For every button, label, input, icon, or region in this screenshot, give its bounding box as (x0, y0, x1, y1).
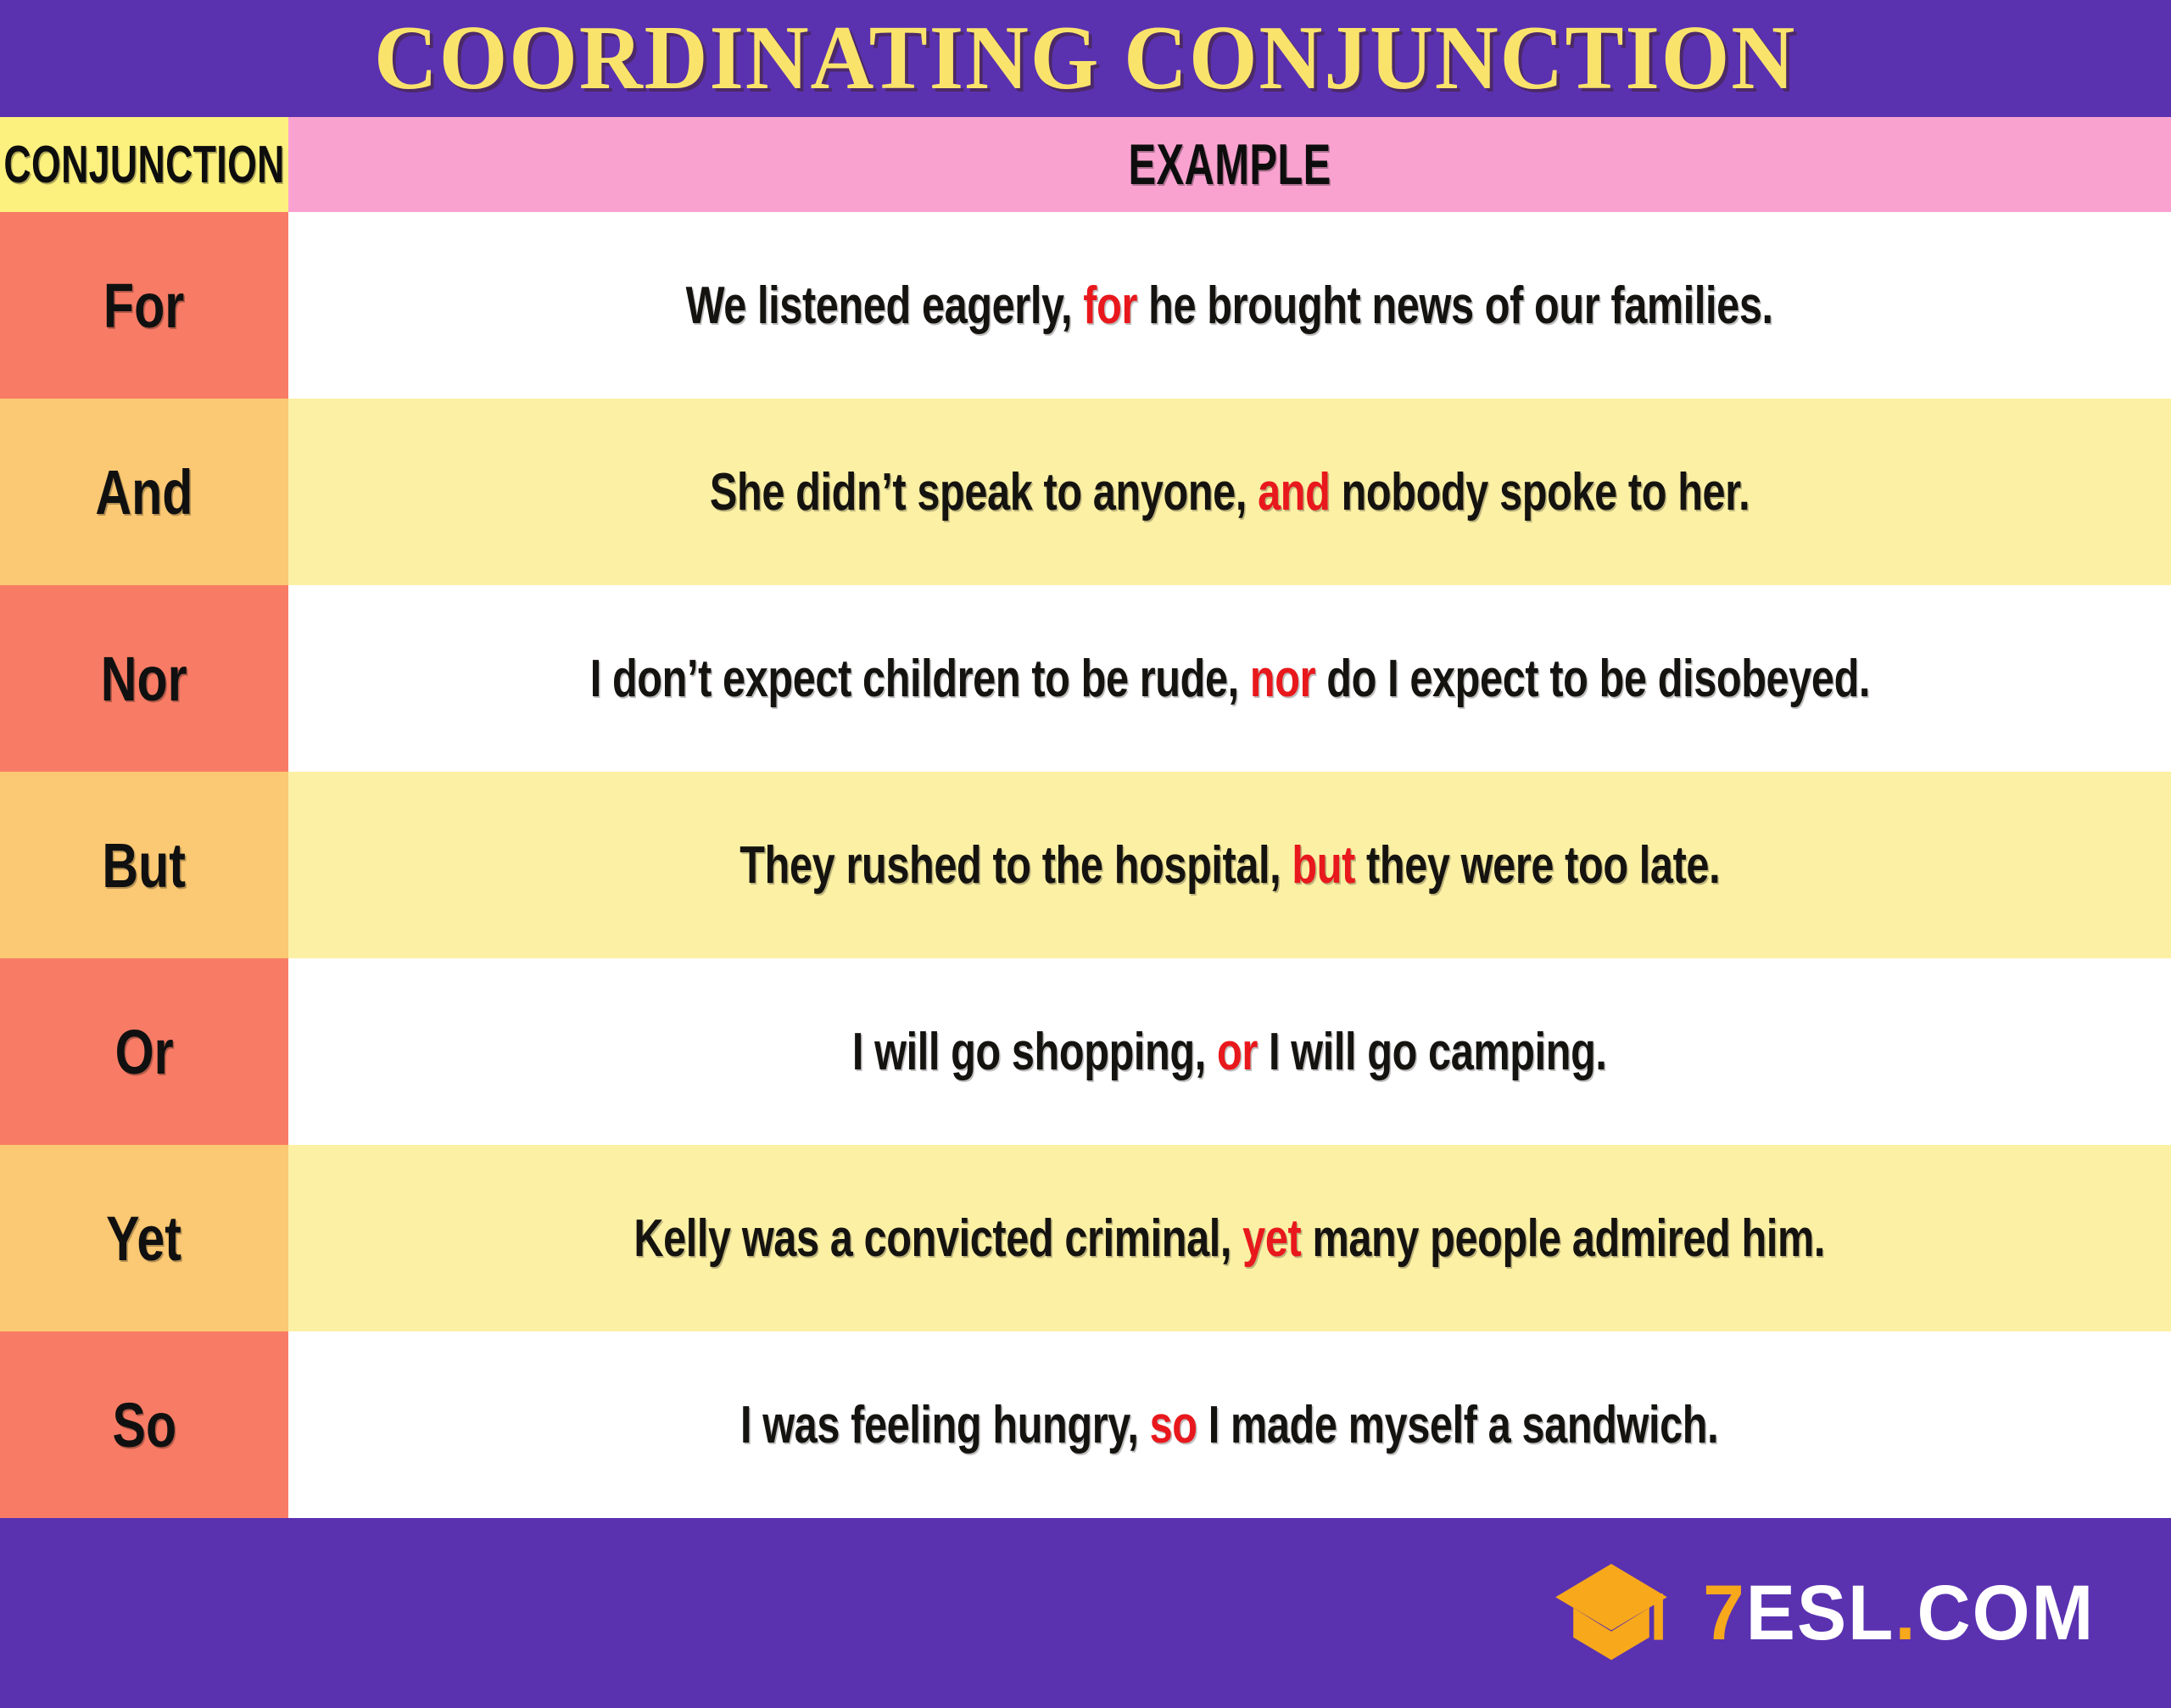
example-text-after: I made myself a sandwich. (1197, 1396, 1719, 1454)
conjunction-cell: Nor (0, 585, 288, 772)
table-row: And She didn’t speak to anyone, and nobo… (0, 399, 2171, 585)
table-header-row: CONJUNCTION EXAMPLE (0, 117, 2171, 212)
example-text-before: She didn’t speak to anyone, (710, 463, 1258, 522)
example-cell: She didn’t speak to anyone, and nobody s… (288, 399, 2171, 585)
conjunction-table: CONJUNCTION EXAMPLE For We listened eage… (0, 117, 2171, 1518)
highlighted-conjunction: yet (1242, 1209, 1301, 1268)
highlighted-conjunction: nor (1250, 650, 1315, 708)
table-row: Yet Kelly was a convicted criminal, yet … (0, 1145, 2171, 1331)
graduation-cap-icon (1552, 1557, 1671, 1670)
conjunction-label: For (103, 270, 184, 342)
example-text-before: I will go shopping, (852, 1023, 1217, 1081)
highlighted-conjunction: for (1084, 276, 1138, 335)
highlighted-conjunction: and (1258, 463, 1330, 522)
example-text-after: nobody spoke to her. (1330, 463, 1750, 522)
page-title: COORDINATING CONJUNCTION (374, 13, 1796, 104)
conjunction-label: And (95, 456, 193, 528)
header-cell-conjunction: CONJUNCTION (0, 117, 288, 212)
example-cell: We listened eagerly, for he brought news… (288, 212, 2171, 399)
example-cell: I was feeling hungry, so I made myself a… (288, 1331, 2171, 1518)
highlighted-conjunction: but (1292, 836, 1354, 895)
conjunction-label: But (103, 829, 187, 901)
conjunction-label: Or (114, 1016, 173, 1088)
footer-banner: 7ESL.COM (0, 1518, 2171, 1708)
table-row: Nor I don’t expect children to be rude, … (0, 585, 2171, 772)
table-row: Or I will go shopping, or I will go camp… (0, 958, 2171, 1145)
infographic-poster: COORDINATING CONJUNCTION CONJUNCTION EXA… (0, 0, 2171, 1708)
example-sentence: I will go shopping, or I will go camping… (852, 1022, 1607, 1082)
example-cell: They rushed to the hospital, but they we… (288, 772, 2171, 958)
example-cell: I don’t expect children to be rude, nor … (288, 585, 2171, 772)
brand-logo[interactable]: 7ESL.COM (1552, 1557, 2105, 1670)
highlighted-conjunction: or (1217, 1023, 1258, 1081)
example-cell: Kelly was a convicted criminal, yet many… (288, 1145, 2171, 1331)
brand-dot: . (1895, 1570, 1917, 1656)
conjunction-label: Yet (107, 1203, 182, 1275)
header-label-conjunction: CONJUNCTION (3, 135, 284, 195)
conjunction-cell: But (0, 772, 288, 958)
example-text-before: Kelly was a convicted criminal, (634, 1209, 1243, 1268)
header-cell-example: EXAMPLE (288, 117, 2171, 212)
conjunction-cell: And (0, 399, 288, 585)
example-text-before: We listened eagerly, (686, 276, 1084, 335)
table-row: But They rushed to the hospital, but the… (0, 772, 2171, 958)
conjunction-cell: Yet (0, 1145, 288, 1331)
example-text-after: do I expect to be disobeyed. (1315, 650, 1870, 708)
example-text-after: many people admired him. (1302, 1209, 1826, 1268)
brand-seven: 7 (1703, 1570, 1746, 1656)
example-sentence: We listened eagerly, for he brought news… (686, 276, 1773, 336)
example-cell: I will go shopping, or I will go camping… (288, 958, 2171, 1145)
header-label-example: EXAMPLE (1128, 131, 1331, 198)
conjunction-cell: Or (0, 958, 288, 1145)
brand-esl: ESL (1745, 1570, 1895, 1656)
table-row: So I was feeling hungry, so I made mysel… (0, 1331, 2171, 1518)
conjunction-cell: For (0, 212, 288, 399)
example-text-before: They rushed to the hospital, (739, 836, 1292, 895)
example-text-before: I don’t expect children to be rude, (589, 650, 1249, 708)
title-banner: COORDINATING CONJUNCTION (0, 0, 2171, 117)
example-text-after: they were too late. (1355, 836, 1720, 895)
example-text-after: I will go camping. (1258, 1023, 1607, 1081)
example-sentence: She didn’t speak to anyone, and nobody s… (710, 462, 1750, 522)
example-sentence: Kelly was a convicted criminal, yet many… (634, 1208, 1826, 1269)
conjunction-cell: So (0, 1331, 288, 1518)
example-sentence: I was feeling hungry, so I made myself a… (740, 1395, 1718, 1455)
example-text-before: I was feeling hungry, (740, 1396, 1150, 1454)
example-sentence: I don’t expect children to be rude, nor … (589, 649, 1869, 709)
highlighted-conjunction: so (1150, 1396, 1197, 1454)
conjunction-label: So (112, 1389, 176, 1461)
example-text-after: he brought news of our families. (1137, 276, 1773, 335)
example-sentence: They rushed to the hospital, but they we… (739, 835, 1720, 896)
conjunction-label: Nor (101, 643, 187, 715)
table-row: For We listened eagerly, for he brought … (0, 212, 2171, 399)
brand-wordmark: 7ESL.COM (1703, 1574, 2095, 1652)
brand-com: COM (1917, 1570, 2095, 1656)
